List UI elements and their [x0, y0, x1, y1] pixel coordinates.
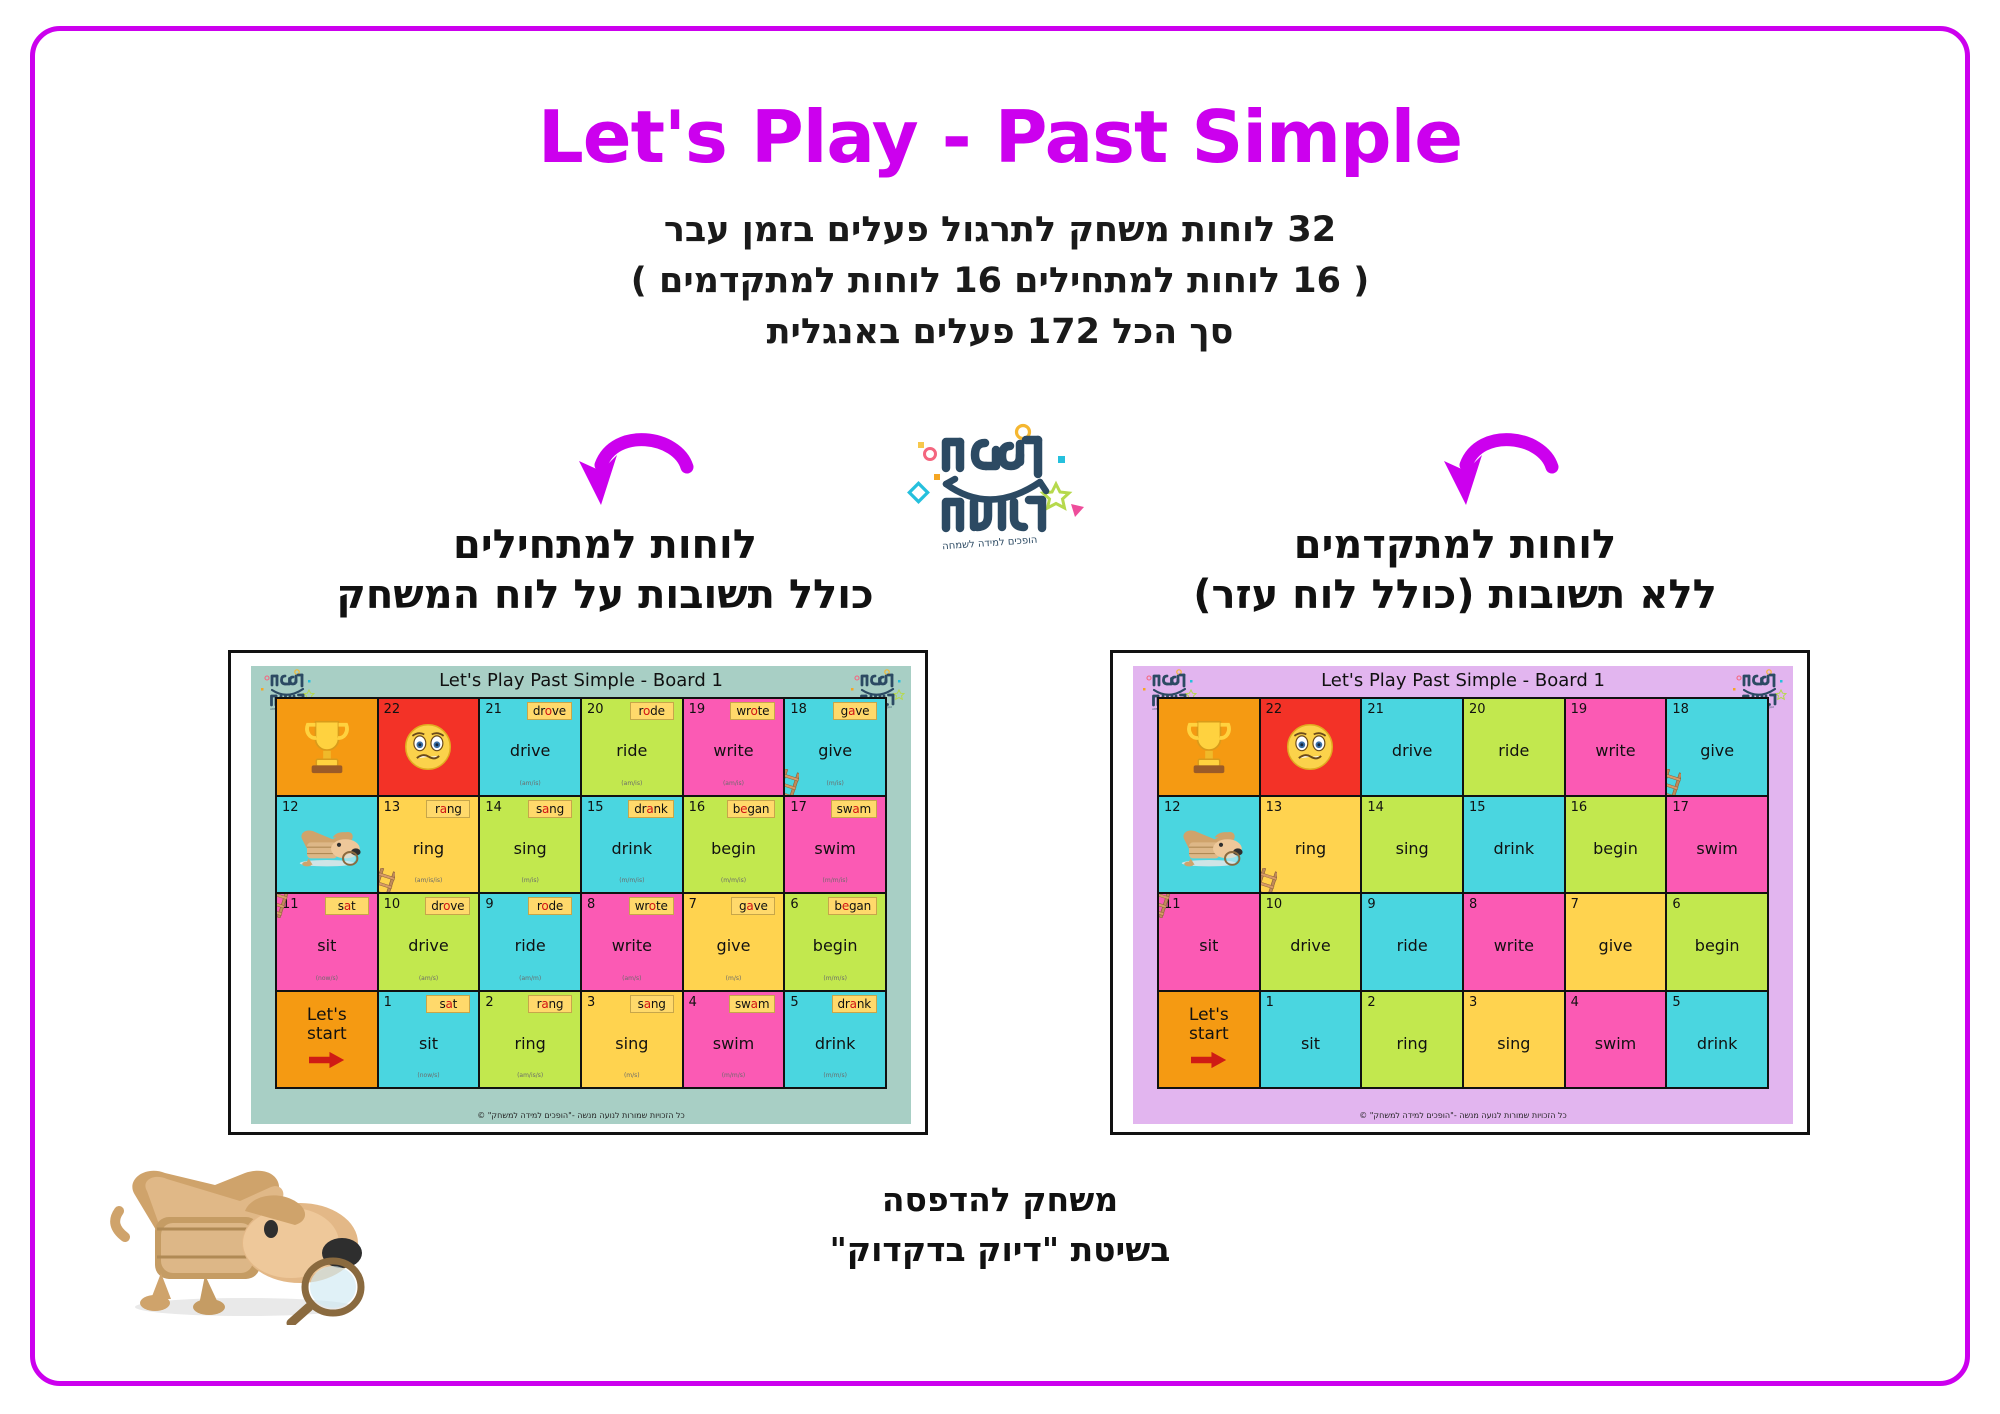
board-cell-6[interactable]: 6begin [1667, 894, 1767, 990]
board-cell-21[interactable]: 21drive [1362, 699, 1462, 795]
cell-number: 21 [485, 702, 502, 717]
cell-number: 10 [384, 897, 401, 912]
cell-hint: (am/is) [480, 780, 580, 787]
cell-number: 2 [1367, 995, 1375, 1010]
cell-hint: (m/s) [582, 1072, 682, 1079]
cell-verb: begin [1566, 839, 1666, 858]
cell-answer: swam [729, 995, 775, 1013]
board-cell-penalty[interactable]: 22 [1261, 699, 1361, 795]
cell-number: 11 [1164, 897, 1181, 912]
subtitle-line-1: 32 לוחות משחק לתרגול פעלים בזמן עבר [0, 205, 2000, 256]
cell-verb: drink [1667, 1034, 1767, 1053]
cell-number: 10 [1266, 897, 1283, 912]
board-grid-beginner: 22 21drovedrive(am/is)20roderide(am/is)1… [275, 697, 887, 1089]
cell-number: 16 [1571, 800, 1588, 815]
cell-hint: (m/m/s) [684, 1072, 784, 1079]
cell-hint: (now/s) [277, 975, 377, 982]
cell-number: 3 [587, 995, 595, 1010]
cell-verb: ride [1464, 741, 1564, 760]
cell-hint: (am/m) [480, 975, 580, 982]
subtitle-block: 32 לוחות משחק לתרגול פעלים בזמן עבר ( 16… [0, 205, 2000, 357]
board-inner-advanced: Let's Play Past Simple - Board 1 הופכים … [1133, 666, 1793, 1124]
board-cell-20[interactable]: 20roderide(am/is) [582, 699, 682, 795]
cell-verb: ride [1362, 936, 1462, 955]
cell-answer: drank [628, 800, 673, 818]
cell-answer: wrote [629, 897, 674, 915]
cell-verb: sit [1159, 936, 1259, 955]
cell-number: 6 [790, 897, 798, 912]
section-heading-advanced-line2: ללא תשובות (כולל לוח עזר) [1105, 570, 1805, 620]
board-cell-3[interactable]: 3sing [1464, 992, 1564, 1088]
cell-number: 13 [384, 800, 401, 815]
board-cell-4[interactable]: 4swamswim(m/m/s) [684, 992, 784, 1088]
red-arrow-icon [1191, 1051, 1227, 1069]
board-cell-trophy[interactable] [1159, 699, 1259, 795]
board-title-beginner: Let's Play Past Simple - Board 1 [251, 670, 911, 691]
cell-answer: drank [832, 995, 877, 1013]
board-cell-8[interactable]: 8write [1464, 894, 1564, 990]
cell-number: 18 [1672, 702, 1689, 717]
cell-verb: drive [379, 936, 479, 955]
cell-verb: begin [785, 936, 885, 955]
worried-face-icon [402, 721, 454, 773]
cell-verb: sing [582, 1034, 682, 1053]
cell-verb: drive [1362, 741, 1462, 760]
cell-verb: write [1566, 741, 1666, 760]
board-cell-18[interactable]: 18gavegive(m/is) [785, 699, 885, 795]
cell-answer: began [727, 800, 776, 818]
section-heading-advanced: לוחות למתקדמים ללא תשובות (כולל לוח עזר) [1105, 520, 1805, 620]
cell-number: 7 [689, 897, 697, 912]
board-cell-21[interactable]: 21drovedrive(am/is) [480, 699, 580, 795]
cell-hint: (m/m/is) [785, 877, 885, 884]
board-preview-beginner[interactable]: Let's Play Past Simple - Board 1 הופכים … [228, 650, 928, 1135]
page-title: Let's Play - Past Simple [0, 95, 2000, 179]
board-cell-10[interactable]: 10drovedrive(am/s) [379, 894, 479, 990]
cell-answer: rang [528, 995, 572, 1013]
board-cell-1[interactable]: 1satsit(now/s) [379, 992, 479, 1088]
cell-verb: write [684, 741, 784, 760]
cell-number: 16 [689, 800, 706, 815]
cell-number: 19 [689, 702, 706, 717]
poster-page: Let's Play - Past Simple 32 לוחות משחק ל… [0, 0, 2000, 1414]
board-cell-14[interactable]: 14sing [1362, 797, 1462, 893]
cell-number: 17 [1672, 800, 1689, 815]
cell-verb: drive [1261, 936, 1361, 955]
cell-hint: (m/m/is) [684, 877, 784, 884]
ladder-icon [1667, 769, 1681, 795]
cell-verb: ring [379, 839, 479, 858]
cell-number: 4 [689, 995, 697, 1010]
board-cell-19[interactable]: 19write [1566, 699, 1666, 795]
cell-verb: begin [1667, 936, 1767, 955]
cell-number: 3 [1469, 995, 1477, 1010]
cell-number: 17 [790, 800, 807, 815]
cell-verb: drive [480, 741, 580, 760]
cell-hint: (m/m/s) [785, 975, 885, 982]
curved-arrow-down-left-icon [565, 425, 695, 515]
board-cell-17[interactable]: 17swim [1667, 797, 1767, 893]
board-cell-13[interactable]: 13ring [1261, 797, 1361, 893]
cell-number: 9 [1367, 897, 1375, 912]
cell-verb: ring [1261, 839, 1361, 858]
board-cell-dog[interactable]: 12 [1159, 797, 1259, 893]
cell-answer: rode [630, 702, 674, 720]
cell-verb: swim [1566, 1034, 1666, 1053]
board-cell-15[interactable]: 15drink [1464, 797, 1564, 893]
curved-arrow-down-left-icon-2 [1430, 425, 1560, 515]
bottom-note-line1: משחק להדפסה [700, 1175, 1300, 1225]
board-footer-advanced: כל הזכויות שמורות לנועה מנשה -"הופכים למ… [1133, 1111, 1793, 1120]
board-cell-9[interactable]: 9roderide(am/m) [480, 894, 580, 990]
board-cell-14[interactable]: 14sangsing(m/is) [480, 797, 580, 893]
cell-verb: ring [480, 1034, 580, 1053]
cell-answer: began [828, 897, 877, 915]
section-heading-beginner: לוחות למתחילים כולל תשובות על לוח המשחק [255, 520, 955, 620]
board-preview-advanced[interactable]: Let's Play Past Simple - Board 1 הופכים … [1110, 650, 1810, 1135]
board-grid-advanced: 22 21drive20ride19write18give 12 13 [1157, 697, 1769, 1089]
board-cell-1[interactable]: 1sit [1261, 992, 1361, 1088]
board-cell-20[interactable]: 20ride [1464, 699, 1564, 795]
cell-answer: sat [325, 897, 369, 915]
cell-verb: give [1566, 936, 1666, 955]
cell-verb: ride [582, 741, 682, 760]
board-cell-19[interactable]: 19wrotewrite(am/is) [684, 699, 784, 795]
board-cell-4[interactable]: 4swim [1566, 992, 1666, 1088]
board-cell-5[interactable]: 5drankdrink(m/m/s) [785, 992, 885, 1088]
cell-verb: sing [1362, 839, 1462, 858]
bottom-note: משחק להדפסה בשיטת "דיוק בדקדוק" [700, 1175, 1300, 1274]
bottom-note-line2: בשיטת "דיוק בדקדוק" [700, 1225, 1300, 1275]
cell-number: 6 [1672, 897, 1680, 912]
board-cell-5[interactable]: 5drink [1667, 992, 1767, 1088]
cell-verb: sit [277, 936, 377, 955]
cell-number: 15 [1469, 800, 1486, 815]
cell-hint: (am/is) [684, 780, 784, 787]
cell-verb: drink [582, 839, 682, 858]
cell-verb: begin [684, 839, 784, 858]
dog-icon [291, 820, 363, 868]
dog-icon [1173, 820, 1245, 868]
cell-verb: ride [480, 936, 580, 955]
board-cell-7[interactable]: 7give [1566, 894, 1666, 990]
cell-verb: write [1464, 936, 1564, 955]
board-cell-9[interactable]: 9ride [1362, 894, 1462, 990]
cell-answer: swam [831, 800, 877, 818]
cell-verb: sing [1464, 1034, 1564, 1053]
cell-verb: swim [684, 1034, 784, 1053]
cell-number: 13 [1266, 800, 1283, 815]
cell-answer: rang [426, 800, 470, 818]
cell-verb: sit [1261, 1034, 1361, 1053]
cell-hint: (now/s) [379, 1072, 479, 1079]
ladder-icon [1261, 868, 1277, 892]
cell-number: 19 [1571, 702, 1588, 717]
cell-verb: drink [1464, 839, 1564, 858]
cell-number: 14 [485, 800, 502, 815]
cell-number: 20 [1469, 702, 1486, 717]
cell-number: 15 [587, 800, 604, 815]
cell-hint: (am/is) [582, 780, 682, 787]
cell-number: 1 [384, 995, 392, 1010]
board-cell-start[interactable]: Let'sstart [277, 992, 377, 1088]
cell-number: 20 [587, 702, 604, 717]
board-cell-7[interactable]: 7gavegive(m/s) [684, 894, 784, 990]
cell-hint: (m/m/s) [785, 1072, 885, 1079]
board-inner-beginner: Let's Play Past Simple - Board 1 הופכים … [251, 666, 911, 1124]
cell-verb: drink [785, 1034, 885, 1053]
cell-number: 5 [790, 995, 798, 1010]
board-cell-8[interactable]: 8wrotewrite(am/s) [582, 894, 682, 990]
cell-answer: sang [630, 995, 674, 1013]
cell-answer: sat [426, 995, 470, 1013]
board-cell-17[interactable]: 17swamswim(m/m/is) [785, 797, 885, 893]
detective-dog-mascot-icon [95, 1125, 385, 1325]
cell-number: 2 [485, 995, 493, 1010]
cell-number: 11 [282, 897, 299, 912]
board-cell-3[interactable]: 3sangsing(m/s) [582, 992, 682, 1088]
cell-verb: swim [1667, 839, 1767, 858]
section-heading-beginner-line2: כולל תשובות על לוח המשחק [255, 570, 955, 620]
board-cell-dog[interactable]: 12 [277, 797, 377, 893]
cell-number: 4 [1571, 995, 1579, 1010]
cell-hint: (m/s) [684, 975, 784, 982]
section-heading-beginner-line1: לוחות למתחילים [255, 520, 955, 570]
cell-number: 1 [1266, 995, 1274, 1010]
cell-verb: give [1667, 741, 1767, 760]
board-cell-2[interactable]: 2ring [1362, 992, 1462, 1088]
red-arrow-icon [309, 1051, 345, 1069]
cell-hint: (m/m/is) [582, 877, 682, 884]
section-heading-advanced-line1: לוחות למתקדמים [1105, 520, 1805, 570]
subtitle-line-2: ( 16 לוחות למתחילים 16 לוחות למתקדמים ) [0, 256, 2000, 307]
board-cell-18[interactable]: 18give [1667, 699, 1767, 795]
cell-answer: sang [528, 800, 572, 818]
cell-verb: write [582, 936, 682, 955]
cell-answer: drove [527, 702, 572, 720]
board-cell-6[interactable]: 6beganbegin(m/m/s) [785, 894, 885, 990]
board-cell-10[interactable]: 10drive [1261, 894, 1361, 990]
cell-number: 9 [485, 897, 493, 912]
board-cell-15[interactable]: 15drankdrink(m/m/is) [582, 797, 682, 893]
subtitle-line-3: סך הכל 172 פעלים באנגלית [0, 307, 2000, 358]
cell-number: 18 [790, 702, 807, 717]
cell-hint: (m/is) [785, 780, 885, 787]
board-cell-start[interactable]: Let'sstart [1159, 992, 1259, 1088]
cell-verb: give [684, 936, 784, 955]
board-footer-beginner: כל הזכויות שמורות לנועה מנשה -"הופכים למ… [251, 1111, 911, 1120]
trophy-icon [304, 717, 350, 777]
cell-hint: (m/is) [480, 877, 580, 884]
cell-answer: rode [528, 897, 572, 915]
cell-answer: drove [425, 897, 470, 915]
cell-hint: (am/s) [379, 975, 479, 982]
cell-number: 14 [1367, 800, 1384, 815]
cell-number: 5 [1672, 995, 1680, 1010]
cell-number: 7 [1571, 897, 1579, 912]
board-cell-penalty[interactable]: 22 [379, 699, 479, 795]
cell-verb: sing [480, 839, 580, 858]
cell-verb: sit [379, 1034, 479, 1053]
logo-tagline: הופכים למידה לשמחה [942, 535, 1038, 553]
cell-verb: ring [1362, 1034, 1462, 1053]
board-cell-2[interactable]: 2rangring(am/is/s) [480, 992, 580, 1088]
board-cell-16[interactable]: 16begin [1566, 797, 1666, 893]
board-title-advanced: Let's Play Past Simple - Board 1 [1133, 670, 1793, 691]
cell-hint: (am/is/s) [480, 1072, 580, 1079]
cell-number: 8 [1469, 897, 1477, 912]
board-cell-13[interactable]: 13rangring(am/is/is) [379, 797, 479, 893]
cell-number: 8 [587, 897, 595, 912]
cell-verb: give [785, 741, 885, 760]
cell-answer: gave [731, 897, 775, 915]
board-cell-16[interactable]: 16beganbegin(m/m/is) [684, 797, 784, 893]
worried-face-icon [1284, 721, 1336, 773]
cell-hint: (am/is/is) [379, 877, 479, 884]
cell-answer: gave [833, 702, 877, 720]
cell-number: 21 [1367, 702, 1384, 717]
trophy-icon [1186, 717, 1232, 777]
board-cell-11[interactable]: 11sit [1159, 894, 1259, 990]
cell-answer: wrote [730, 702, 775, 720]
board-cell-11[interactable]: 11satsit(now/s) [277, 894, 377, 990]
board-cell-trophy[interactable] [277, 699, 377, 795]
cell-verb: swim [785, 839, 885, 858]
cell-hint: (am/s) [582, 975, 682, 982]
